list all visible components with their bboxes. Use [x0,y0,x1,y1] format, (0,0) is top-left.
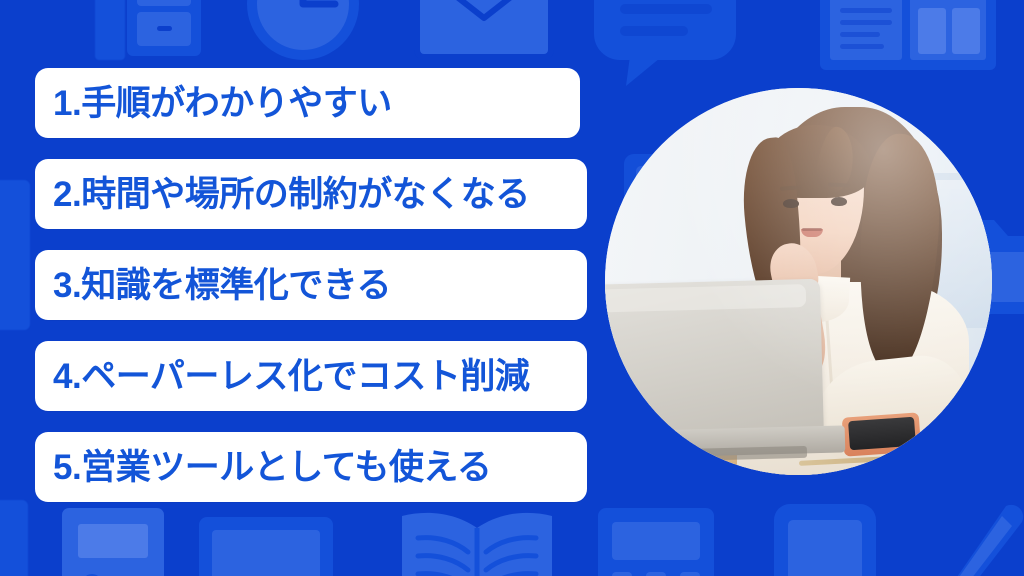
pen-icon [920,498,1024,576]
list-item[interactable]: 5.営業ツールとしても使える [35,432,587,502]
document-icon [60,506,166,576]
decorative-bar [95,0,125,60]
photo-phone [848,417,916,451]
list-item-label: 2.時間や場所の制約がなくなる [53,177,530,212]
list-item-label: 3.知識を標準化できる [53,268,391,303]
list-item[interactable]: 1.手順がわかりやすい [35,68,580,138]
photo-eye [831,197,847,206]
list-item-label: 4.ペーパーレス化でコスト削減 [53,359,529,394]
window-icon [196,514,336,576]
clock-icon [243,0,363,64]
photo-mouth-line [802,228,822,231]
filing-cabinet-icon [125,0,203,58]
calculator-icon [596,506,716,576]
speech-bubble-icon [590,0,740,90]
list-item-label: 5.営業ツールとしても使える [53,450,491,485]
benefit-list: 1.手順がわかりやすい 2.時間や場所の制約がなくなる 3.知識を標準化できる … [35,68,587,502]
tablet-icon [770,500,880,576]
newspaper-icon [818,0,998,72]
envelope-icon [414,0,554,60]
list-item[interactable]: 4.ペーパーレス化でコスト削減 [35,341,587,411]
list-item[interactable]: 3.知識を標準化できる [35,250,587,320]
open-book-icon [392,506,562,576]
profile-photo [605,88,992,475]
decorative-bar [0,500,28,576]
photo-eyebrow [780,185,802,191]
list-item[interactable]: 2.時間や場所の制約がなくなる [35,159,587,229]
decorative-bar [0,180,30,330]
slide-canvas: 1.手順がわかりやすい 2.時間や場所の制約がなくなる 3.知識を標準化できる … [0,0,1024,576]
list-item-label: 1.手順がわかりやすい [53,86,392,121]
